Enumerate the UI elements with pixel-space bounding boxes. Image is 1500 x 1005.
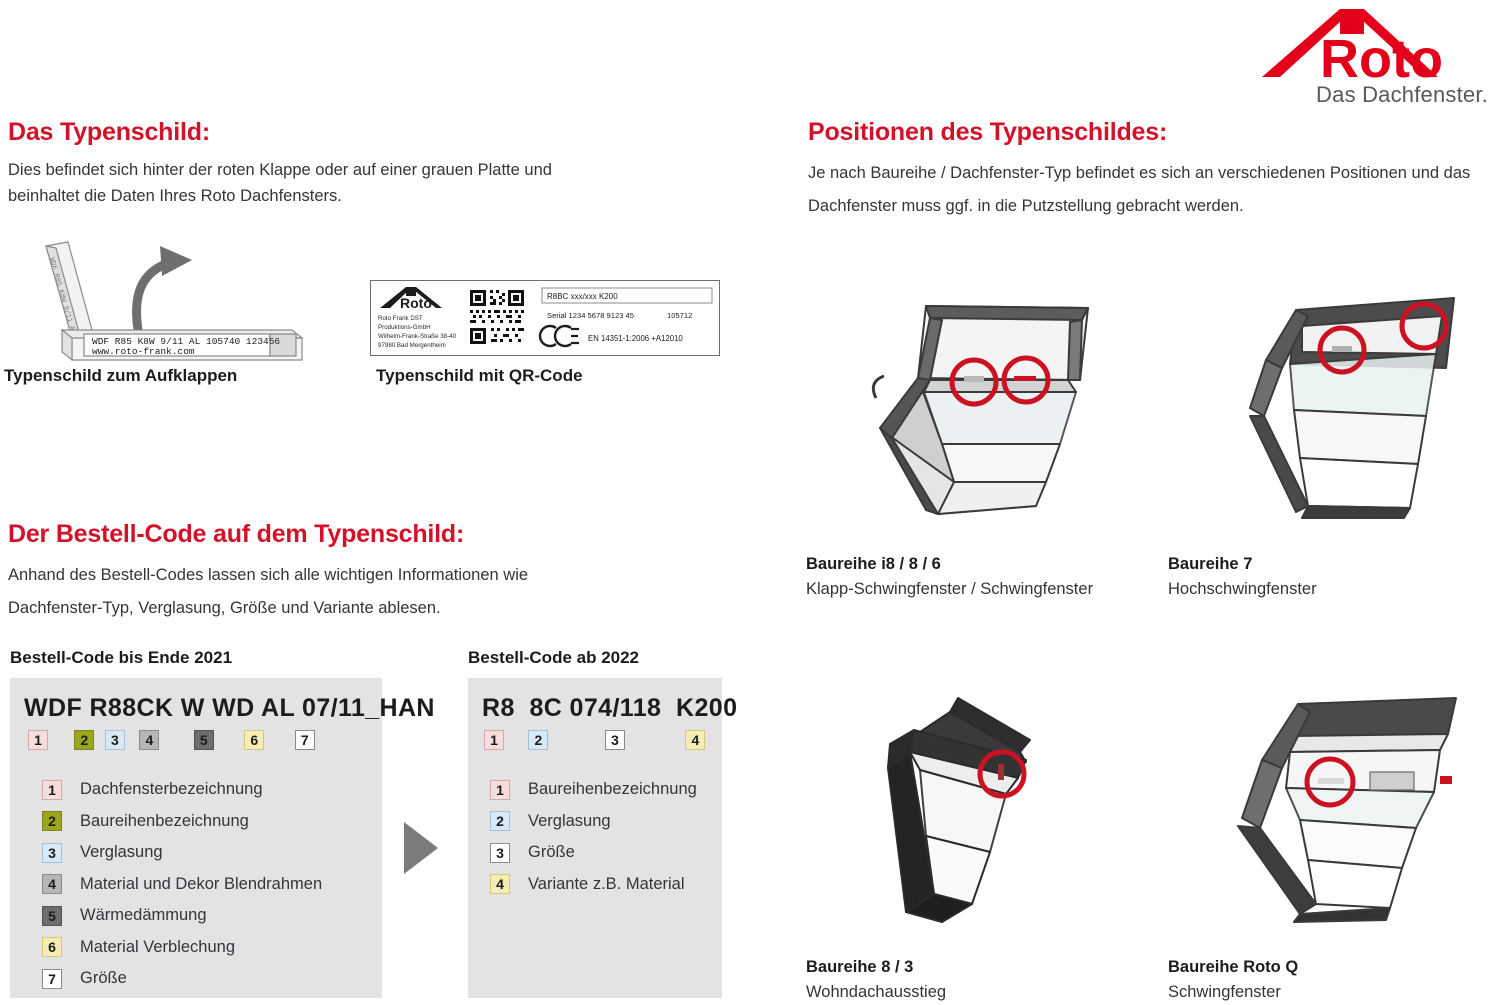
title-code-old: Bestell-Code bis Ende 2021: [10, 648, 232, 668]
legend-item: 1 Dachfensterbezeichnung: [42, 774, 322, 806]
section-bestellcode: Der Bestell-Code auf dem Typenschild: An…: [8, 520, 568, 625]
nameplate-qr-illustration: Roto Roto Frank DST Produktions-GmbH Wil…: [370, 280, 722, 358]
legend-badge-5: 5: [42, 906, 62, 926]
legend-badge-1: 1: [490, 780, 510, 800]
segment-badge-7: 7: [295, 730, 315, 750]
qr-code-icon: [468, 288, 526, 346]
title-code-new: Bestell-Code ab 2022: [468, 648, 639, 668]
legend-badge-4: 4: [490, 874, 510, 894]
segment-badge-1: 1: [28, 730, 48, 750]
svg-text:Produktions-GmbH: Produktions-GmbH: [378, 324, 431, 331]
segment-badge-5: 5: [194, 730, 214, 750]
panel-code-old: WDF R88CK W WD AL 07/11_HAN 1 2 3 4 5 6 …: [10, 678, 382, 998]
code-new-string: R8 8C 074/118 K200: [482, 694, 737, 723]
legend-code-old: 1 Dachfensterbezeichnung 2 Baureihenbeze…: [42, 774, 322, 995]
paragraph-typenschild: Dies befindet sich hinter der roten Klap…: [8, 157, 608, 209]
svg-text:Roto: Roto: [400, 295, 432, 311]
page-root: Roto Das Dachfenster. Das Typenschild: D…: [0, 0, 1500, 1004]
roto-logo: Roto Das Dachfenster.: [1252, 4, 1492, 116]
plate-flip-line2: www.roto-frank.com: [92, 346, 195, 357]
legend-badge-7: 7: [42, 969, 62, 989]
legend-item: 6 Material Verblechung: [42, 932, 322, 964]
code-new-segment-badges: 1 2 3 4: [484, 730, 705, 750]
transition-arrow-icon: [404, 822, 438, 874]
segment-badge-6: 6: [244, 730, 264, 750]
nameplate-flip-icon: WDF R85 K8W 9/11 AL WDF R85 K8W 9/11 AL …: [10, 238, 310, 368]
legend-item: 2 Verglasung: [490, 806, 697, 838]
legend-item: 4 Material und Dekor Blendrahmen: [42, 869, 322, 901]
right-column: Positionen des Typenschildes: Je nach Ba…: [808, 118, 1492, 223]
legend-label-2: Verglasung: [528, 812, 611, 831]
window-photo-baureihe-7: [1190, 268, 1460, 528]
plate-code-field: R8BC xxx/xxx K200: [547, 292, 618, 301]
legend-label-1: Baureihenbezeichnung: [528, 780, 697, 799]
legend-label-4: Material und Dekor Blendrahmen: [80, 875, 322, 894]
legend-label-5: Wärmedämmung: [80, 906, 207, 925]
segment-badge-4: 4: [139, 730, 159, 750]
window-photo-baureihe-i8: [830, 268, 1110, 528]
plate-norm: EN 14351-1:2006 +A12010: [588, 334, 683, 343]
legend-item: 4 Variante z.B. Material: [490, 869, 697, 901]
window-photo-baureihe-8-3: [830, 668, 1090, 928]
caption-window-3-subtitle: Wohndachausstieg: [806, 979, 946, 1005]
heading-typenschild: Das Typenschild:: [8, 118, 778, 147]
legend-label-6: Material Verblechung: [80, 938, 235, 957]
segment-badge-2: 2: [528, 730, 548, 750]
legend-label-3: Verglasung: [80, 843, 163, 862]
legend-badge-4: 4: [42, 874, 62, 894]
legend-label-1: Dachfensterbezeichnung: [80, 780, 263, 799]
caption-window-1: Baureihe i8 / 8 / 6 Klapp-Schwingfenster…: [806, 552, 1093, 602]
legend-code-new: 1 Baureihenbezeichnung 2 Verglasung 3 Gr…: [490, 774, 697, 900]
roof-window-illustration-4-icon: [1190, 668, 1470, 928]
panel-code-new: R8 8C 074/118 K200 1 2 3 4 1 Baureihenbe…: [468, 678, 722, 998]
heading-positionen: Positionen des Typenschildes:: [808, 118, 1492, 147]
caption-nameplate-qr: Typenschild mit QR-Code: [376, 366, 583, 386]
caption-window-4-subtitle: Schwingfenster: [1168, 979, 1298, 1005]
legend-badge-2: 2: [490, 811, 510, 831]
svg-text:97980 Bad Mergentheim: 97980 Bad Mergentheim: [378, 342, 446, 349]
segment-badge-3: 3: [105, 730, 125, 750]
segment-badge-2: 2: [74, 730, 94, 750]
legend-item: 3 Verglasung: [42, 837, 322, 869]
code-old-string: WDF R88CK W WD AL 07/11_HAN: [24, 694, 435, 723]
segment-badge-4: 4: [685, 730, 705, 750]
legend-item: 1 Baureihenbezeichnung: [490, 774, 697, 806]
caption-window-4-title: Baureihe Roto Q: [1168, 955, 1298, 979]
svg-text:Roto Frank DST: Roto Frank DST: [378, 315, 423, 322]
roof-window-illustration-2-icon: [1190, 268, 1460, 528]
caption-window-2-title: Baureihe 7: [1168, 552, 1317, 576]
caption-window-1-subtitle: Klapp-Schwingfenster / Schwingfenster: [806, 576, 1093, 602]
paragraph-positionen: Je nach Baureihe / Dachfenster-Typ befin…: [808, 157, 1488, 223]
legend-badge-3: 3: [42, 843, 62, 863]
legend-badge-2: 2: [42, 811, 62, 831]
roto-logo-icon: Roto: [1252, 4, 1492, 94]
legend-label-4: Variante z.B. Material: [528, 875, 685, 894]
code-old-segment-badges: 1 2 3 4 5 6 7: [28, 730, 315, 750]
caption-window-2-subtitle: Hochschwingfenster: [1168, 576, 1317, 602]
paragraph-bestellcode: Anhand des Bestell-Codes lassen sich all…: [8, 559, 548, 625]
legend-item: 5 Wärmedämmung: [42, 900, 322, 932]
heading-bestellcode: Der Bestell-Code auf dem Typenschild:: [8, 520, 568, 549]
svg-text:Wilhelm-Frank-Straße 38-40: Wilhelm-Frank-Straße 38-40: [378, 333, 457, 340]
logo-tagline: Das Dachfenster.: [1316, 82, 1488, 108]
caption-window-3: Baureihe 8 / 3 Wohndachausstieg: [806, 955, 946, 1005]
plate-serial-number: 105712: [667, 311, 692, 320]
nameplate-qr-icon: Roto Roto Frank DST Produktions-GmbH Wil…: [370, 280, 720, 356]
segment-badge-1: 1: [484, 730, 504, 750]
caption-window-1-title: Baureihe i8 / 8 / 6: [806, 552, 1093, 576]
nameplate-flip-illustration: WDF R85 K8W 9/11 AL WDF R85 K8W 9/11 AL …: [10, 238, 300, 368]
caption-nameplate-flip: Typenschild zum Aufklappen: [4, 366, 237, 386]
legend-label-2: Baureihenbezeichnung: [80, 812, 249, 831]
legend-item: 3 Größe: [490, 837, 697, 869]
svg-text:Roto: Roto: [1320, 29, 1443, 89]
plate-serial: Serial 1234 5678 9123 45: [547, 311, 634, 320]
segment-badge-3: 3: [605, 730, 625, 750]
legend-badge-1: 1: [42, 780, 62, 800]
caption-window-3-title: Baureihe 8 / 3: [806, 955, 946, 979]
legend-item: 7 Größe: [42, 963, 322, 995]
legend-badge-3: 3: [490, 843, 510, 863]
caption-window-4: Baureihe Roto Q Schwingfenster: [1168, 955, 1298, 1005]
roof-window-illustration-3-icon: [830, 668, 1090, 928]
caption-window-2: Baureihe 7 Hochschwingfenster: [1168, 552, 1317, 602]
left-column: Das Typenschild: Dies befindet sich hint…: [8, 118, 778, 209]
legend-item: 2 Baureihenbezeichnung: [42, 806, 322, 838]
legend-badge-6: 6: [42, 937, 62, 957]
legend-label-7: Größe: [80, 969, 127, 988]
roof-window-illustration-1-icon: [830, 268, 1110, 528]
window-photo-baureihe-roto-q: [1190, 668, 1470, 928]
legend-label-3: Größe: [528, 843, 575, 862]
